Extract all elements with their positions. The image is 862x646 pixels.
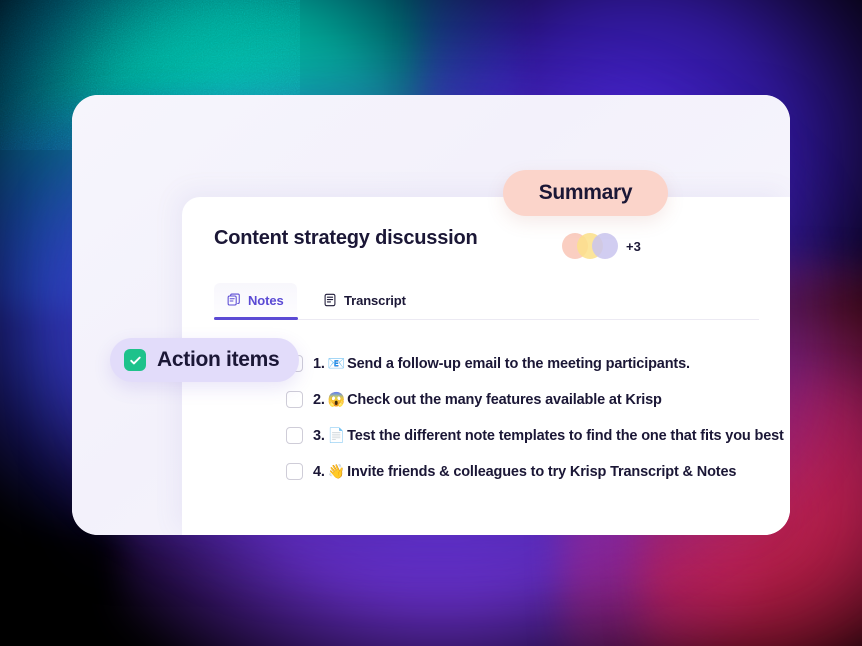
list-item-body: Check out the many features available at… xyxy=(347,392,662,408)
list-item-body: Send a follow-up email to the meeting pa… xyxy=(347,356,690,372)
list-item-number: 2. xyxy=(313,392,325,408)
screenshot-stage: Content strategy discussion +3 xyxy=(0,0,862,646)
avatar xyxy=(592,233,618,259)
list-item-number: 3. xyxy=(313,428,325,444)
tab-transcript-label: Transcript xyxy=(344,293,406,308)
list-item-text: 3.📄Test the different note templates to … xyxy=(313,427,784,444)
transcript-icon xyxy=(323,293,337,307)
waving-hand-emoji: 👋 xyxy=(328,463,345,479)
action-items-badge-label: Action items xyxy=(157,348,279,372)
item-checkbox[interactable] xyxy=(286,391,303,408)
list-item-number: 4. xyxy=(313,464,325,480)
main-card: Content strategy discussion +3 xyxy=(72,95,790,535)
action-items-list: 1.📧Send a follow-up email to the meeting… xyxy=(286,345,786,489)
list-item[interactable]: 2.😱Check out the many features available… xyxy=(286,381,786,417)
tab-notes-label: Notes xyxy=(248,293,284,308)
list-item-body: Invite friends & colleagues to try Krisp… xyxy=(347,464,736,480)
list-item[interactable]: 4.👋Invite friends & colleagues to try Kr… xyxy=(286,453,786,489)
list-item[interactable]: 3.📄Test the different note templates to … xyxy=(286,417,786,453)
list-item[interactable]: 1.📧Send a follow-up email to the meeting… xyxy=(286,345,786,381)
checkbox-checked-icon xyxy=(124,349,146,371)
list-item-text: 4.👋Invite friends & colleagues to try Kr… xyxy=(313,463,736,480)
page-title: Content strategy discussion xyxy=(214,227,478,250)
item-checkbox[interactable] xyxy=(286,427,303,444)
list-item-text: 1.📧Send a follow-up email to the meeting… xyxy=(313,355,690,372)
tab-bar: Notes Transcript xyxy=(182,283,790,317)
summary-badge[interactable]: Summary xyxy=(503,170,668,216)
list-item-number: 1. xyxy=(313,356,325,372)
action-items-badge[interactable]: Action items xyxy=(110,338,299,382)
avatar-overflow-count: +3 xyxy=(626,239,641,254)
avatar-group[interactable]: +3 xyxy=(562,233,641,259)
tab-notes[interactable]: Notes xyxy=(214,283,297,317)
list-item-body: Test the different note templates to fin… xyxy=(347,428,784,444)
summary-badge-label: Summary xyxy=(539,181,633,205)
notes-icon xyxy=(227,293,241,307)
active-tab-underline xyxy=(214,317,298,320)
screaming-face-emoji: 😱 xyxy=(328,391,345,407)
email-emoji: 📧 xyxy=(328,355,345,371)
tab-transcript[interactable]: Transcript xyxy=(310,283,419,317)
page-emoji: 📄 xyxy=(328,427,345,443)
note-header: Content strategy discussion +3 xyxy=(214,223,759,267)
list-item-text: 2.😱Check out the many features available… xyxy=(313,391,662,408)
item-checkbox[interactable] xyxy=(286,463,303,480)
